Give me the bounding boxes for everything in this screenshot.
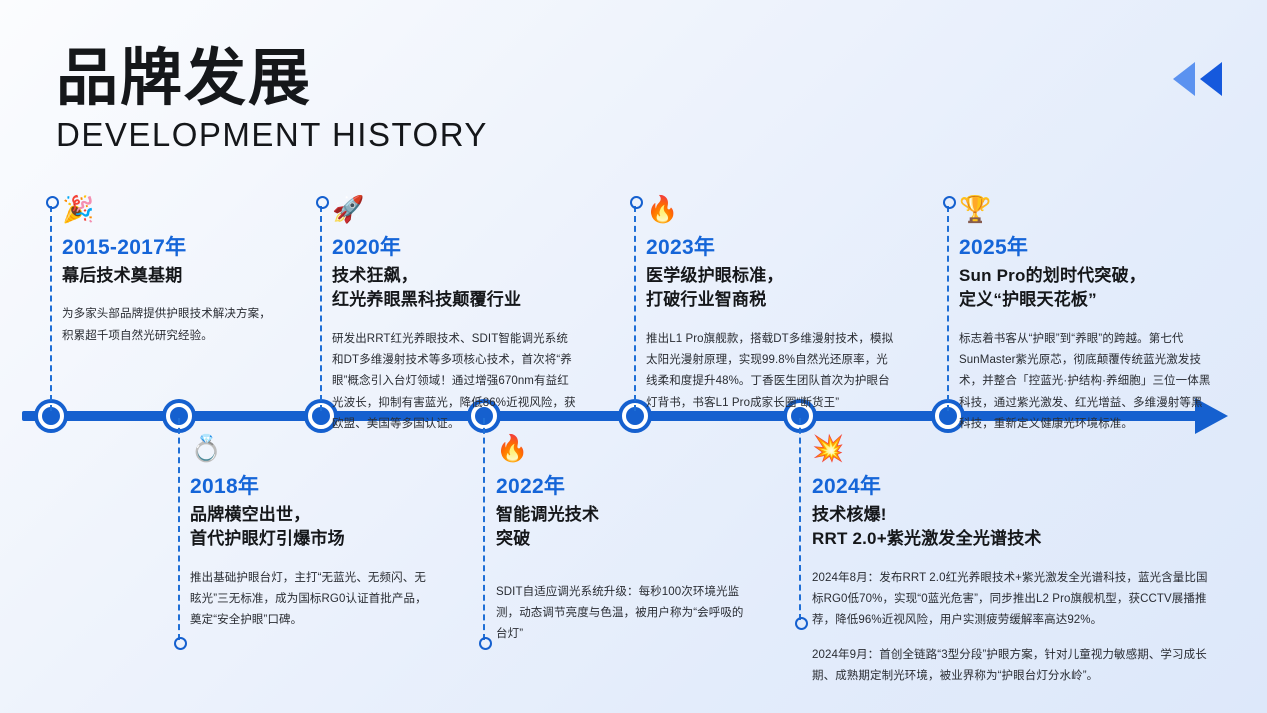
timeline-entry-2018[interactable]: 💍 2018年 品牌横空出世， 首代护眼灯引爆市场 推出基础护眼台灯，主打“无蓝…	[190, 435, 435, 632]
entry-body-paragraph: 2024年9月：首创全链路“3型分段”护眼方案，针对儿童视力敏感期、学习成长期、…	[812, 645, 1217, 688]
connector-2024	[799, 418, 803, 620]
entry-heading-line: 技术核爆!	[812, 503, 1217, 527]
entry-body: 2024年8月：发布RRT 2.0红光养眼技术+紫光激发全光谱科技，蓝光含量比国…	[812, 568, 1217, 688]
timeline-entry-2025[interactable]: 🏆 2025年 Sun Pro的划时代突破， 定义“护眼天花板” 标志着书客从“…	[959, 196, 1212, 435]
connector-2015-2017	[50, 206, 54, 411]
page-title-en: DEVELOPMENT HISTORY	[56, 117, 488, 153]
collision-icon: 💥	[812, 435, 1217, 465]
timeline-entry-2022[interactable]: 🔥 2022年 智能调光技术 突破 SDIT自适应调光系统升级：每秒100次环境…	[496, 435, 744, 646]
timeline-entry-2015-2017[interactable]: 🎉 2015-2017年 幕后技术奠基期 为多家头部品牌提供护眼技术解决方案，积…	[62, 196, 277, 347]
entry-heading: 品牌横空出世， 首代护眼灯引爆市场	[190, 503, 435, 551]
entry-body-paragraph: SDIT自适应调光系统升级：每秒100次环境光监测，动态调节亮度与色温，被用户称…	[496, 582, 744, 646]
entry-body-paragraph: 标志着书客从“护眼”到“养眼”的跨越。第七代SunMaster紫光原芯，彻底颠覆…	[959, 329, 1212, 436]
triangle-left-dark-icon	[1200, 62, 1222, 96]
entry-year: 2024年	[812, 474, 1217, 500]
entry-heading-line: Sun Pro的划时代突破，	[959, 264, 1212, 288]
entry-body: 推出L1 Pro旗舰款，搭载DT多维漫射技术，模拟太阳光漫射原理，实现99.8%…	[646, 329, 894, 415]
triangle-left-light-icon	[1173, 62, 1195, 96]
connector-2022	[483, 418, 487, 640]
entry-body: 为多家头部品牌提供护眼技术解决方案，积累超千项自然光研究经验。	[62, 304, 277, 347]
connector-endpoint-dot	[795, 617, 808, 630]
entry-heading: 医学级护眼标准， 打破行业智商税	[646, 264, 894, 312]
entry-year: 2023年	[646, 235, 894, 261]
entry-year: 2025年	[959, 235, 1212, 261]
connector-endpoint-dot	[46, 196, 59, 209]
timeline-entry-2023[interactable]: 🔥 2023年 医学级护眼标准， 打破行业智商税 推出L1 Pro旗舰款，搭载D…	[646, 196, 894, 414]
entry-heading-line: 医学级护眼标准，	[646, 264, 894, 288]
entry-heading-line: 智能调光技术	[496, 503, 744, 527]
timeline-entry-2020[interactable]: 🚀 2020年 技术狂飙， 红光养眼黑科技颠覆行业 研发出RRT红光养眼技术、S…	[332, 196, 577, 435]
rocket-icon: 🚀	[332, 196, 577, 226]
entry-heading-line: 定义“护眼天花板”	[959, 288, 1212, 312]
entry-body-paragraph: 为多家头部品牌提供护眼技术解决方案，积累超千项自然光研究经验。	[62, 304, 277, 347]
entry-body-paragraph: 研发出RRT红光养眼技术、SDIT智能调光系统和DT多维漫射技术等多项核心技术，…	[332, 329, 577, 436]
entry-body-paragraph: 推出基础护眼台灯，主打“无蓝光、无频闪、无眩光”三无标准，成为国标RG0认证首批…	[190, 568, 435, 632]
entry-body: 标志着书客从“护眼”到“养眼”的跨越。第七代SunMaster紫光原芯，彻底颠覆…	[959, 329, 1212, 436]
corner-decoration	[1173, 62, 1222, 96]
entry-year: 2018年	[190, 474, 435, 500]
entry-body: 研发出RRT红光养眼技术、SDIT智能调光系统和DT多维漫射技术等多项核心技术，…	[332, 329, 577, 436]
entry-body: 推出基础护眼台灯，主打“无蓝光、无频闪、无眩光”三无标准，成为国标RG0认证首批…	[190, 568, 435, 632]
entry-heading-line: 打破行业智商税	[646, 288, 894, 312]
entry-year: 2022年	[496, 474, 744, 500]
entry-heading-line: 品牌横空出世，	[190, 503, 435, 527]
entry-heading-line: 红光养眼黑科技颠覆行业	[332, 288, 577, 312]
entry-heading-line: 技术狂飙，	[332, 264, 577, 288]
page-header: 品牌发展 DEVELOPMENT HISTORY	[56, 46, 488, 153]
entry-heading-line: 幕后技术奠基期	[62, 264, 277, 288]
entry-heading-line: 突破	[496, 527, 744, 551]
connector-2025	[947, 206, 951, 411]
party-popper-icon: 🎉	[62, 196, 277, 226]
connector-endpoint-dot	[630, 196, 643, 209]
connector-2020	[320, 206, 324, 411]
ring-icon: 💍	[190, 435, 435, 465]
entry-year: 2015-2017年	[62, 235, 277, 261]
entry-heading: 技术狂飙， 红光养眼黑科技颠覆行业	[332, 264, 577, 312]
page-title-cn: 品牌发展	[56, 46, 488, 111]
connector-2023	[634, 206, 638, 411]
connector-2018	[178, 418, 182, 640]
connector-endpoint-dot	[943, 196, 956, 209]
connector-endpoint-dot	[479, 637, 492, 650]
entry-heading: 智能调光技术 突破	[496, 503, 744, 551]
trophy-icon: 🏆	[959, 196, 1212, 226]
entry-heading: 技术核爆! RRT 2.0+紫光激发全光谱技术	[812, 503, 1217, 551]
connector-endpoint-dot	[316, 196, 329, 209]
entry-body-paragraph: 2024年8月：发布RRT 2.0红光养眼技术+紫光激发全光谱科技，蓝光含量比国…	[812, 568, 1217, 632]
fire-icon: 🔥	[496, 435, 744, 465]
entry-body-paragraph: 推出L1 Pro旗舰款，搭载DT多维漫射技术，模拟太阳光漫射原理，实现99.8%…	[646, 329, 894, 415]
entry-heading: Sun Pro的划时代突破， 定义“护眼天花板”	[959, 264, 1212, 312]
entry-heading-line: RRT 2.0+紫光激发全光谱技术	[812, 527, 1217, 551]
entry-heading: 幕后技术奠基期	[62, 264, 277, 288]
entry-body: SDIT自适应调光系统升级：每秒100次环境光监测，动态调节亮度与色温，被用户称…	[496, 582, 744, 646]
fire-icon: 🔥	[646, 196, 894, 226]
connector-endpoint-dot	[174, 637, 187, 650]
entry-year: 2020年	[332, 235, 577, 261]
timeline-entry-2024[interactable]: 💥 2024年 技术核爆! RRT 2.0+紫光激发全光谱技术 2024年8月：…	[812, 435, 1217, 687]
entry-heading-line: 首代护眼灯引爆市场	[190, 527, 435, 551]
